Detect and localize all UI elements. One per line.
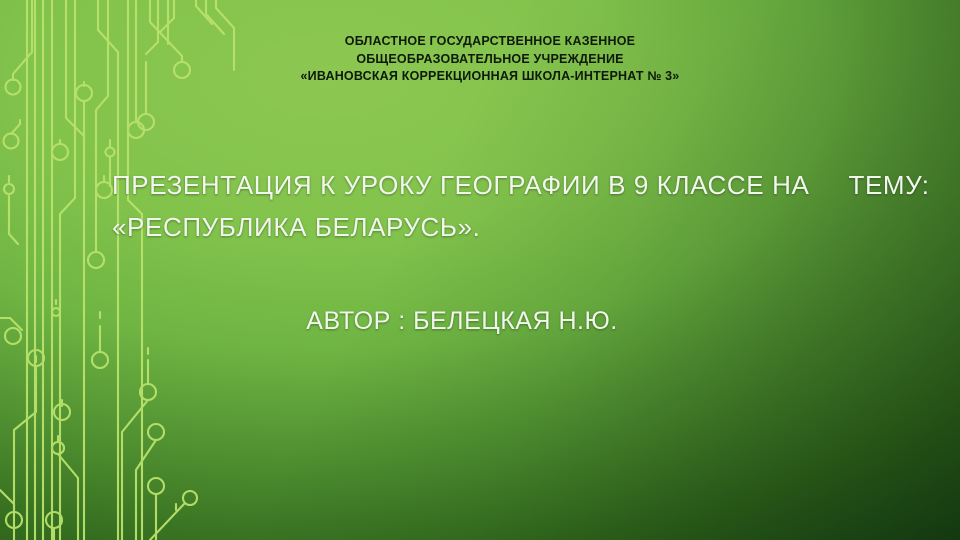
- organization-header-line-1: ОБЛАСТНОЕ ГОСУДАРСТВЕННОЕ КАЗЕННОЕ: [180, 33, 800, 51]
- presentation-title-line-2: «РЕСПУБЛИКА БЕЛАРУСЬ».: [112, 206, 902, 248]
- organization-header: ОБЛАСТНОЕ ГОСУДАРСТВЕННОЕ КАЗЕННОЕ ОБЩЕО…: [180, 33, 800, 86]
- slide-text-layer: ОБЛАСТНОЕ ГОСУДАРСТВЕННОЕ КАЗЕННОЕ ОБЩЕО…: [0, 0, 960, 540]
- presentation-title: ПРЕЗЕНТАЦИЯ К УРОКУ ГЕОГРАФИИ В 9 КЛАССЕ…: [112, 164, 902, 248]
- organization-header-line-2: ОБЩЕОБРАЗОВАТЕЛЬНОЕ УЧРЕЖДЕНИЕ: [180, 51, 800, 69]
- presentation-title-line-1: ПРЕЗЕНТАЦИЯ К УРОКУ ГЕОГРАФИИ В 9 КЛАССЕ…: [112, 164, 902, 206]
- author-credit: АВТОР : БЕЛЕЦКАЯ Н.Ю.: [112, 304, 812, 338]
- organization-header-line-3: «ИВАНОВСКАЯ КОРРЕКЦИОННАЯ ШКОЛА-ИНТЕРНАТ…: [180, 68, 800, 86]
- presentation-slide: ОБЛАСТНОЕ ГОСУДАРСТВЕННОЕ КАЗЕННОЕ ОБЩЕО…: [0, 0, 960, 540]
